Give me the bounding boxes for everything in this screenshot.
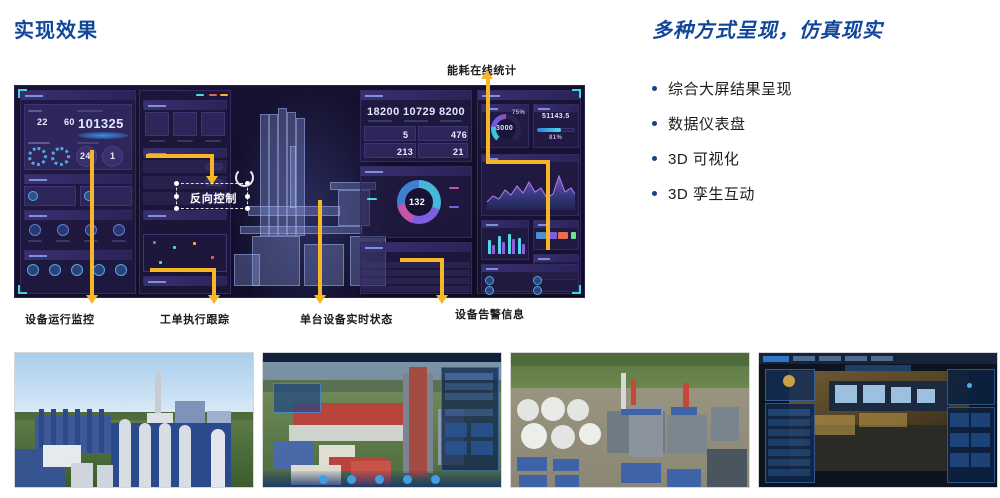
device-tile: [201, 112, 225, 136]
table-row: [362, 262, 470, 268]
list-item-label: 3D 可视化: [668, 148, 739, 169]
device-tile: [145, 112, 169, 136]
callout-arrow-3: [314, 295, 326, 304]
bar: [502, 242, 505, 254]
page-title-left: 实现效果: [14, 14, 98, 43]
env-humidity-value: 60: [64, 117, 75, 127]
callout-line-1-v: [90, 150, 94, 296]
selection-handle: [174, 181, 179, 186]
floorplan-map: [143, 234, 227, 272]
callout-line-rev-v: [210, 154, 214, 178]
env-count-b: 1: [110, 151, 115, 161]
status-icon: [49, 264, 61, 276]
panel-subsystem-a: [24, 174, 132, 184]
panel-header: [144, 211, 226, 220]
callout-label-2: 工单执行跟踪: [160, 311, 230, 327]
selection-handle: [245, 206, 250, 211]
callout-line-rev-h: [146, 154, 214, 158]
panel-header: [25, 251, 131, 260]
list-item-label: 3D 孪生互动: [668, 183, 755, 204]
panel-header-strip: [143, 100, 227, 109]
callout-arrow-4: [436, 295, 448, 304]
callout-label-1: 设备运行监控: [25, 311, 95, 327]
panel-header: [25, 211, 131, 220]
gauge-value: 3000: [496, 125, 513, 132]
callout-arrow-energy: [481, 70, 493, 79]
panel-header: [478, 91, 580, 100]
feature-list: 综合大屏结果呈现 数据仪表盘 3D 可视化 3D 孪生互动: [652, 78, 982, 218]
photo-3d-plant-render: [14, 352, 254, 488]
row-action-button[interactable]: [205, 163, 223, 170]
status-icon: [485, 276, 494, 285]
bar: [518, 238, 521, 254]
callout-line-energy-v2: [546, 160, 550, 250]
callout-label-3: 单台设备实时状态: [300, 311, 393, 327]
callout-line-energy-v: [486, 78, 490, 164]
bullet-dot-icon: [652, 191, 657, 196]
status-icon: [113, 224, 125, 236]
status-icon: [71, 264, 83, 276]
status-icon: [57, 224, 69, 236]
selection-handle: [174, 206, 179, 211]
callout-line-energy-h: [486, 160, 550, 164]
kpi-stat-2: 476: [451, 130, 467, 140]
table-row: [362, 278, 470, 284]
kpi-stat-1: 5: [403, 130, 408, 140]
photo-refinery-aerial: [510, 352, 750, 488]
callout-arrow-2: [208, 295, 220, 304]
panel-header: [534, 255, 578, 262]
panel-header: [21, 91, 135, 100]
list-item-label: 综合大屏结果呈现: [668, 78, 792, 99]
status-icon: [533, 286, 542, 295]
bullet-dot-icon: [652, 156, 657, 161]
env-temperature-value: 22: [37, 117, 48, 127]
callout-line-4-v: [440, 258, 444, 296]
env-pressure-value: 101325: [78, 116, 124, 131]
panel-subsystem-b: [24, 210, 132, 220]
callout-arrow-1: [86, 295, 98, 304]
area-chart-svg: [487, 168, 575, 210]
list-item-label: 数据仪表盘: [668, 113, 746, 134]
status-icon: [115, 264, 127, 276]
kpi-stat-3: 213: [397, 147, 413, 157]
bar: [492, 245, 495, 254]
device-tile: [173, 112, 197, 136]
callout-line-3-v: [318, 200, 322, 296]
list-item: 综合大屏结果呈现: [652, 78, 982, 99]
list-item: 3D 可视化: [652, 148, 982, 169]
kpi-value-3: 8200: [439, 106, 465, 118]
panel-device-status-grid: [481, 264, 579, 292]
area-chart: [487, 168, 575, 210]
heatmap-segment: [571, 232, 576, 239]
page-title-right: 多种方式呈现，仿真现实: [652, 14, 883, 43]
panel-header: [144, 101, 226, 110]
callout-label-4: 设备告警信息: [455, 306, 525, 322]
bar: [508, 234, 511, 254]
photo-workshop-interior-platform: [758, 352, 998, 488]
panel-header: [25, 175, 131, 184]
gauge-ring-a: [28, 147, 47, 166]
selection-handle: [174, 194, 179, 199]
callout-line-2-v: [212, 268, 216, 296]
status-icon: [485, 286, 494, 295]
panel-header: [361, 91, 471, 100]
callout-line-4-h: [400, 258, 444, 262]
kpi-value-2: 10729: [403, 106, 436, 118]
panel-header: [534, 105, 578, 112]
table-row: [362, 286, 470, 292]
gauge-ring-b: [51, 147, 70, 166]
bullet-dot-icon: [652, 121, 657, 126]
panel-floorplan: [143, 210, 227, 219]
panel-overlay-left: [273, 383, 321, 413]
callout-label-reverse-control: 反向控制: [190, 190, 237, 206]
panel-header: [361, 167, 471, 176]
panel-subsystem-c: [24, 250, 132, 260]
status-icon: [93, 264, 105, 276]
progress-percent: 81%: [549, 135, 562, 141]
progress-bar-fill: [537, 128, 561, 132]
panel-header: [482, 221, 528, 228]
bar-chart: [486, 232, 526, 254]
status-icon: [27, 264, 39, 276]
photo-digital-twin-ui: [262, 352, 502, 488]
callout-line-2-h: [150, 268, 216, 272]
list-item: 3D 孪生互动: [652, 183, 982, 204]
donut-center-value: 132: [409, 197, 425, 207]
panel-header: [482, 265, 578, 272]
kpi-value-1: 18200: [367, 106, 400, 118]
list-item: 数据仪表盘: [652, 113, 982, 134]
panel-progress: [533, 104, 579, 148]
heatmap-segment: [558, 232, 568, 239]
dashboard-screenshot: 22 60 101325 24 1: [14, 85, 585, 298]
bar: [498, 236, 501, 254]
bar: [512, 239, 515, 254]
progress-value: 51143.5: [542, 113, 570, 120]
bullet-dot-icon: [652, 86, 657, 91]
kpi-stat-4: 21: [453, 147, 464, 157]
status-icon: [533, 276, 542, 285]
heatmap-segment: [536, 232, 546, 239]
bar: [522, 244, 525, 254]
status-icon: [29, 224, 41, 236]
panel-header: [361, 243, 471, 252]
bar: [488, 240, 491, 254]
panel-header: [534, 221, 578, 228]
selection-handle: [245, 194, 250, 199]
refresh-icon[interactable]: [235, 168, 254, 187]
table-row: [362, 270, 470, 276]
gauge-percent: 75%: [512, 110, 525, 116]
